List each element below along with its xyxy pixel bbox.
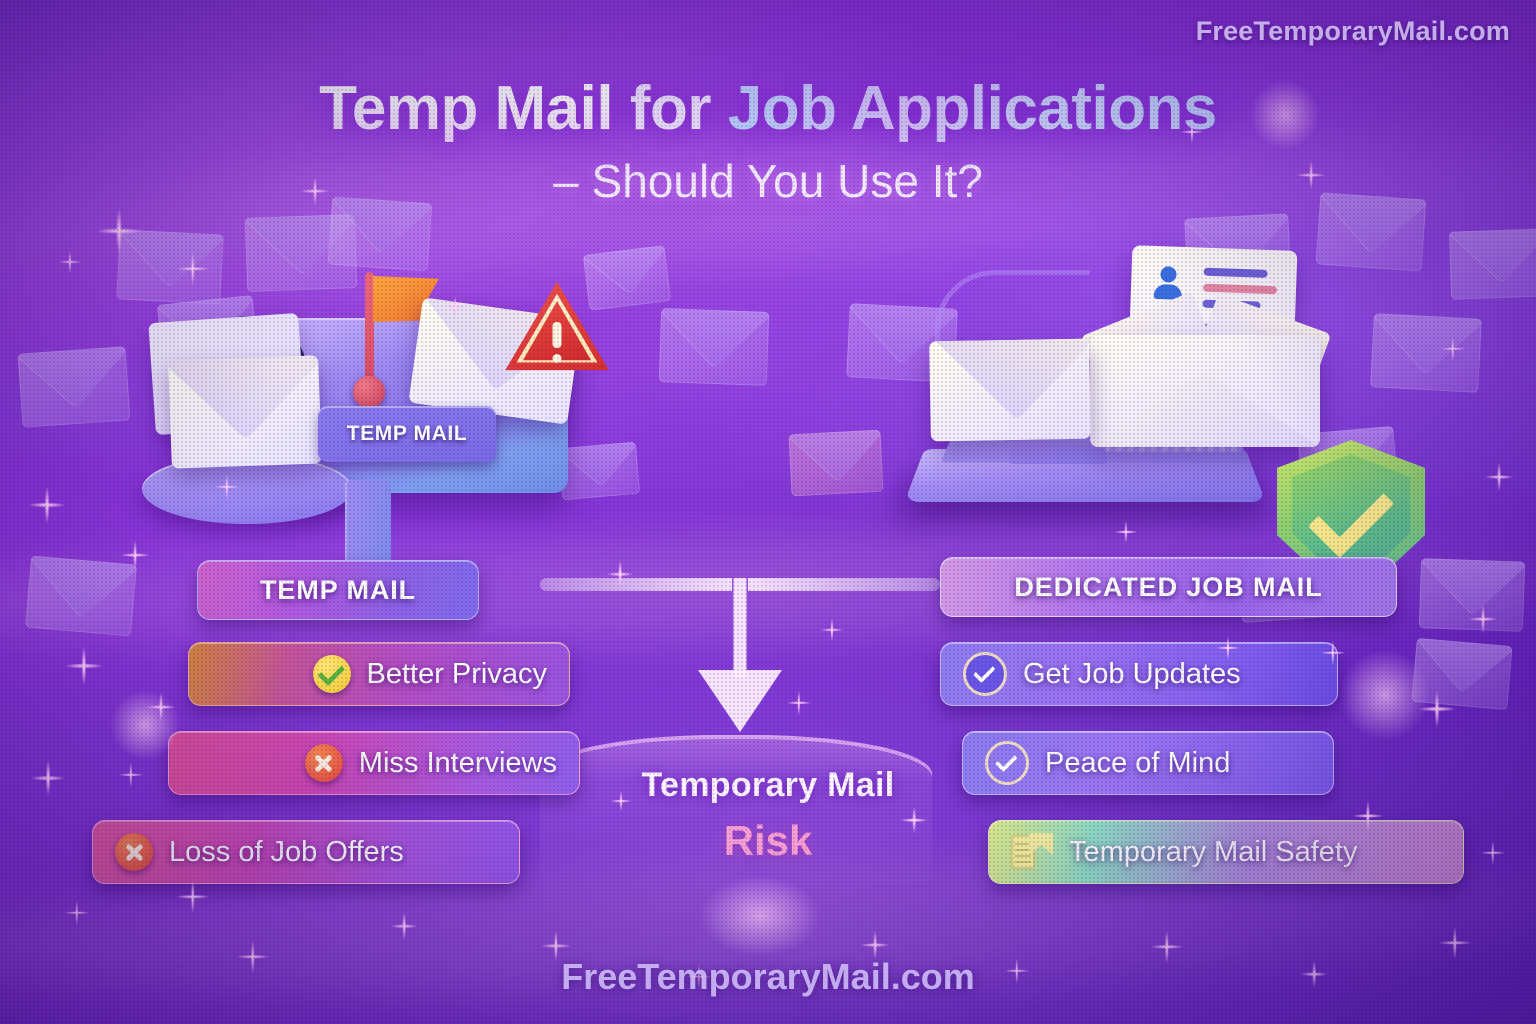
left-column-header: TEMP MAIL — [197, 560, 479, 620]
right-item-label: Temporary Mail Safety — [1069, 836, 1358, 869]
left-column-header-label: TEMP MAIL — [260, 575, 416, 606]
left-item-label: Better Privacy — [367, 658, 548, 691]
mailbox-label-text: TEMP MAIL — [347, 422, 468, 446]
x-circle-red-icon — [115, 833, 153, 871]
left-item-label: Loss of Job Offers — [169, 836, 404, 869]
watermark-bottom: FreeTemporaryMail.com — [0, 956, 1536, 998]
right-item-temporary-mail-safety[interactable]: Temporary Mail Safety — [988, 820, 1464, 884]
mailbox-illustration: TEMP MAIL — [130, 258, 650, 578]
right-column-header-label: DEDICATED JOB MAIL — [1014, 572, 1322, 603]
mailbox-label-plate: TEMP MAIL — [318, 406, 496, 462]
right-column-header: DEDICATED JOB MAIL — [940, 557, 1397, 617]
envelope-icon — [168, 355, 322, 468]
open-envelope-icon — [1090, 335, 1320, 447]
watermark-top: FreeTemporaryMail.com — [1196, 16, 1510, 47]
document-mail-icon — [1011, 833, 1053, 871]
left-item-label: Miss Interviews — [359, 747, 557, 780]
left-item-better-privacy[interactable]: Better Privacy — [188, 642, 570, 706]
down-arrow-icon — [540, 560, 940, 750]
envelope-icon — [929, 339, 1091, 442]
title-part-temp-mail: Temp Mail — [319, 74, 613, 143]
left-item-miss-interviews[interactable]: Miss Interviews — [168, 731, 580, 795]
right-item-peace-of-mind[interactable]: Peace of Mind — [962, 731, 1334, 795]
title-part-for: for — [613, 74, 728, 143]
left-item-loss-of-job-offers[interactable]: Loss of Job Offers — [92, 820, 520, 884]
title-subline: – Should You Use It? — [0, 158, 1536, 204]
infographic-canvas: TEMP MAIL Temporary Mail Risk T — [0, 0, 1536, 1024]
right-item-label: Peace of Mind — [1045, 747, 1230, 780]
right-item-get-job-updates[interactable]: Get Job Updates — [940, 642, 1338, 706]
check-circle-filled-icon — [963, 652, 1007, 696]
right-item-label: Get Job Updates — [1023, 658, 1241, 691]
check-circle-outline-icon — [985, 741, 1029, 785]
laptop-illustration — [905, 240, 1445, 560]
title-part-job-applications: Job Applications — [728, 74, 1217, 143]
check-circle-yellow-icon — [313, 655, 351, 693]
x-circle-red-icon — [305, 744, 343, 782]
page-title: Temp Mail for Job Applications – Should … — [0, 78, 1536, 204]
warning-triangle-icon — [502, 278, 612, 376]
